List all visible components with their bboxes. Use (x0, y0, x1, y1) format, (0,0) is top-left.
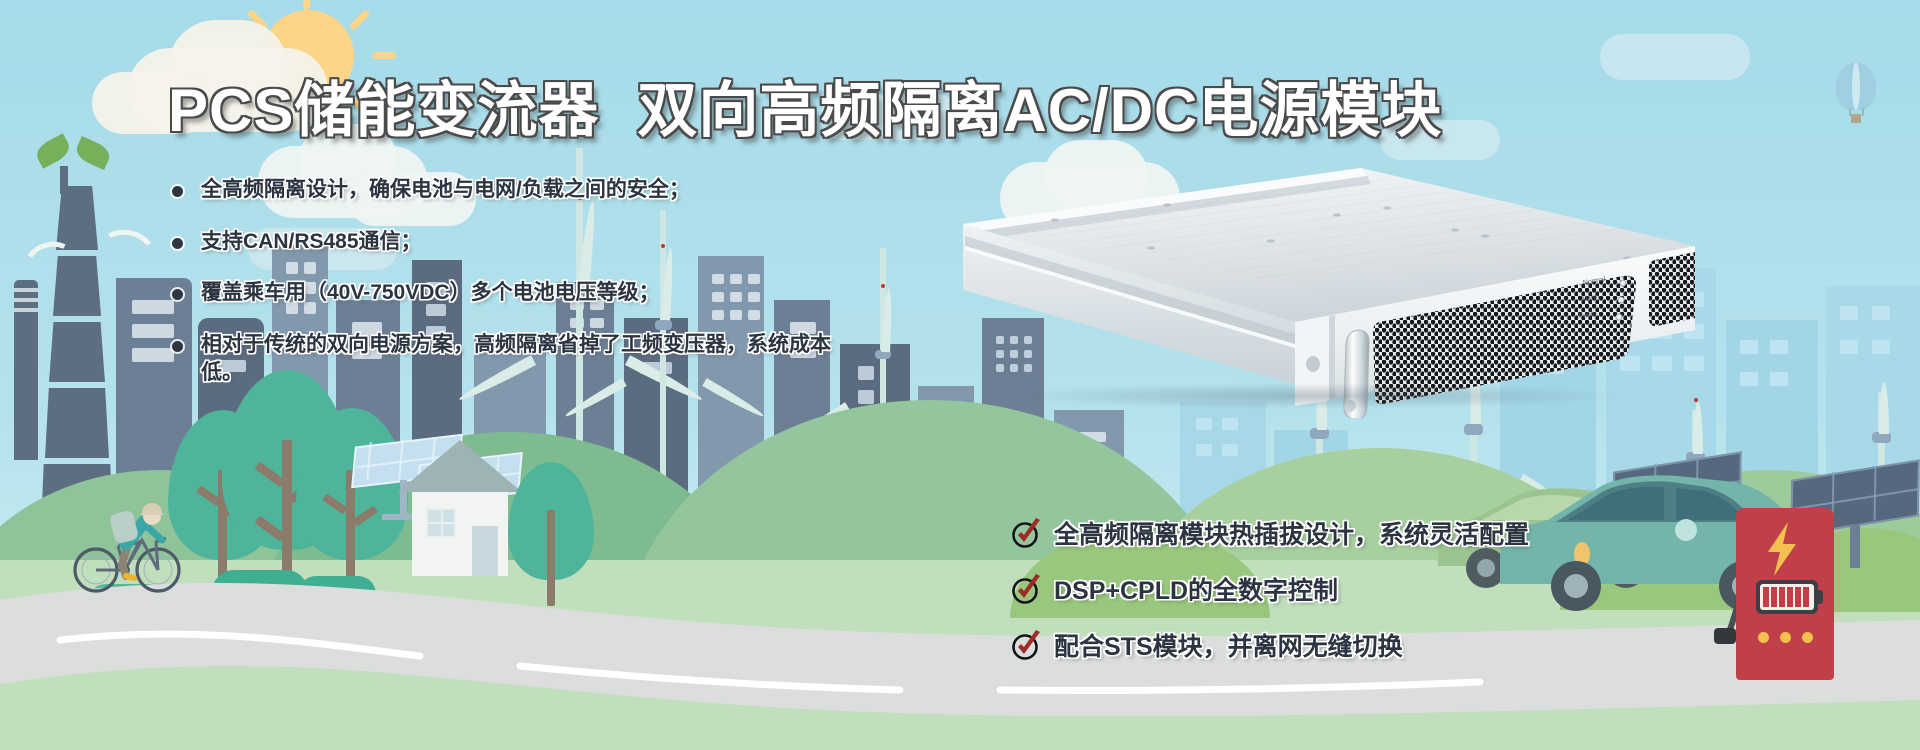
benefit-text: DSP+CPLD的全数字控制 (1054, 571, 1338, 607)
bullet-dot-icon (172, 238, 183, 249)
page-title: PCS储能变流器双向高频隔离AC/DC电源模块 (168, 62, 1442, 149)
list-item: 覆盖乘车用（40V-750VDC）多个电池电压等级； (172, 279, 872, 307)
list-item: 全高频隔离设计，确保电池与电网/负载之间的安全； (172, 176, 872, 204)
feature-text: 覆盖乘车用（40V-750VDC）多个电池电压等级； (201, 279, 660, 307)
check-circle-icon (1010, 572, 1044, 606)
check-circle-icon (1010, 628, 1044, 662)
lightning-bolt-icon (1760, 520, 1808, 578)
feature-text: 支持CAN/RS485通信； (201, 228, 422, 256)
benefits-check-list: 全高频隔离模块热插拔设计，系统灵活配置 DSP+CPLD的全数字控制 配合STS… (1010, 515, 1710, 683)
benefit-text: 全高频隔离模块热插拔设计，系统灵活配置 (1054, 515, 1529, 551)
feature-bullet-list: 全高频隔离设计，确保电池与电网/负载之间的安全； 支持CAN/RS485通信； … (172, 176, 872, 411)
benefit-text: 配合STS模块，并离网无缝切换 (1054, 627, 1403, 663)
headline-part-2: 双向高频隔离AC/DC电源模块 (637, 77, 1442, 144)
feature-text: 全高频隔离设计，确保电池与电网/负载之间的安全； (201, 176, 690, 204)
bullet-dot-icon (172, 186, 183, 197)
rack-module-render (955, 168, 1695, 418)
list-item: 相对于传统的双向电源方案，高频隔离省掉了工频变压器，系统成本低。 (172, 331, 832, 386)
headline-part-1: PCS储能变流器 (168, 77, 599, 144)
promo-banner: Normal Alarm Fault PCS储能变流器双向高频隔离AC/DC电源… (0, 0, 1920, 750)
pcs-power-module-product-image: Normal Alarm Fault (955, 168, 1695, 418)
list-item: DSP+CPLD的全数字控制 (1010, 571, 1710, 607)
check-circle-icon (1010, 516, 1044, 550)
list-item: 全高频隔离模块热插拔设计，系统灵活配置 (1010, 515, 1710, 551)
list-item: 支持CAN/RS485通信； (172, 228, 872, 256)
bullet-dot-icon (172, 341, 183, 352)
feature-text: 相对于传统的双向电源方案，高频隔离省掉了工频变压器，系统成本低。 (201, 331, 832, 386)
list-item: 配合STS模块，并离网无缝切换 (1010, 627, 1710, 663)
bullet-dot-icon (172, 289, 183, 300)
